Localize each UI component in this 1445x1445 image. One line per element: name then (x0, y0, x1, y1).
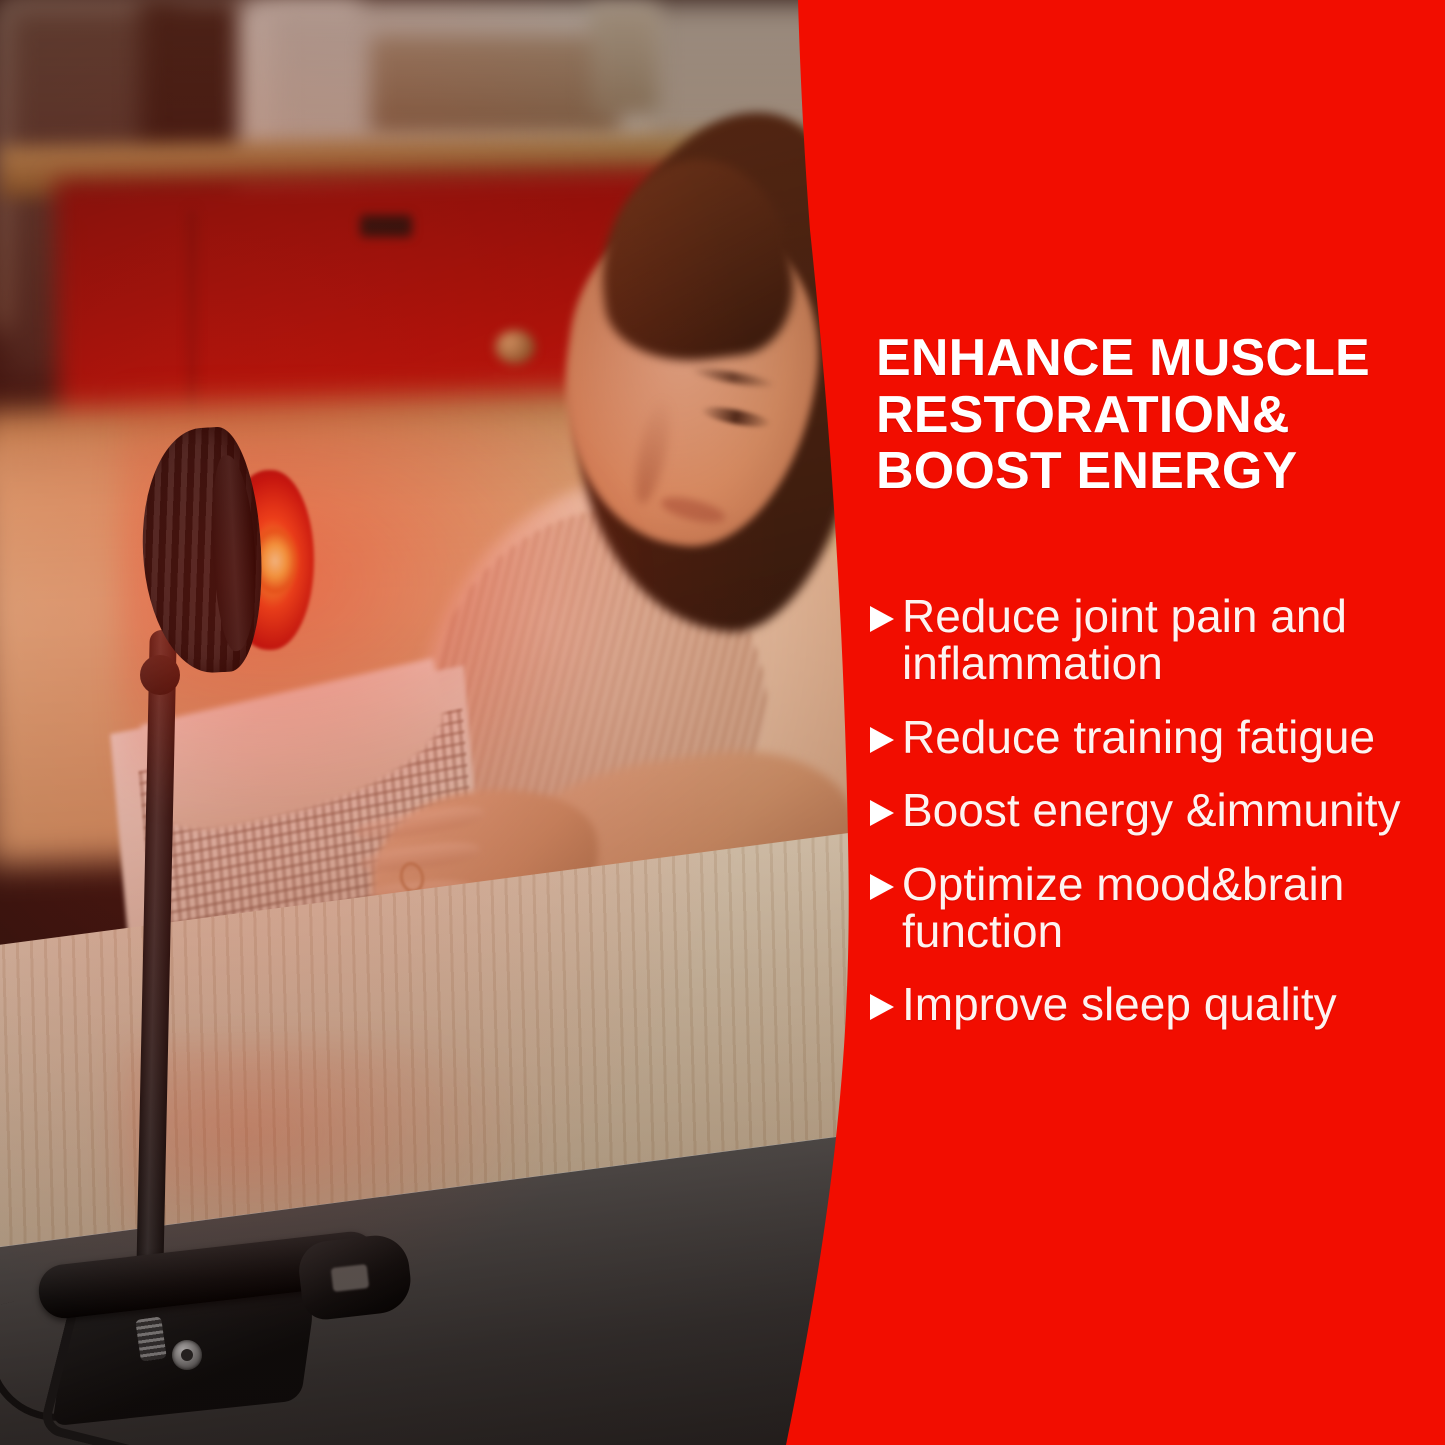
benefit-text: Optimize mood&brain function (902, 861, 1406, 956)
page-title: ENHANCE MUSCLE RESTORATION& BOOST ENERGY (876, 330, 1406, 500)
triangle-right-arrow-icon (870, 800, 894, 826)
clamp-pivot-screw (172, 1340, 202, 1370)
triangle-right-arrow-icon (870, 874, 894, 900)
list-item: Improve sleep quality (876, 981, 1406, 1028)
wicker-basket (370, 35, 620, 135)
lamp-stem-joint (140, 655, 180, 695)
benefit-text: Boost energy &immunity (902, 787, 1401, 834)
headline-line-2: RESTORATION& (876, 386, 1290, 444)
benefit-text: Reduce joint pain and inflammation (902, 593, 1406, 688)
product-marketing-banner: ENHANCE MUSCLE RESTORATION& BOOST ENERGY… (0, 0, 1445, 1445)
triangle-right-arrow-icon (870, 606, 894, 632)
list-item: Reduce joint pain and inflammation (876, 593, 1406, 688)
clamp-notch (331, 1264, 369, 1292)
triangle-right-arrow-icon (870, 727, 894, 753)
headline-line-1: ENHANCE MUSCLE (876, 329, 1370, 387)
benefit-text: Reduce training fatigue (902, 714, 1375, 761)
benefit-text: Improve sleep quality (902, 981, 1337, 1028)
counter-jar (590, 5, 660, 115)
cabinet-handle (360, 215, 412, 237)
list-item: Optimize mood&brain function (876, 861, 1406, 956)
cabinet-knob (495, 330, 535, 364)
benefits-list: Reduce joint pain and inflammation Reduc… (876, 593, 1406, 1029)
headline-line-3: BOOST ENERGY (876, 442, 1297, 500)
triangle-right-arrow-icon (870, 994, 894, 1020)
lifestyle-photo (0, 0, 860, 1445)
list-item: Boost energy &immunity (876, 787, 1406, 834)
marketing-copy: ENHANCE MUSCLE RESTORATION& BOOST ENERGY… (876, 330, 1406, 1029)
list-item: Reduce training fatigue (876, 714, 1406, 761)
